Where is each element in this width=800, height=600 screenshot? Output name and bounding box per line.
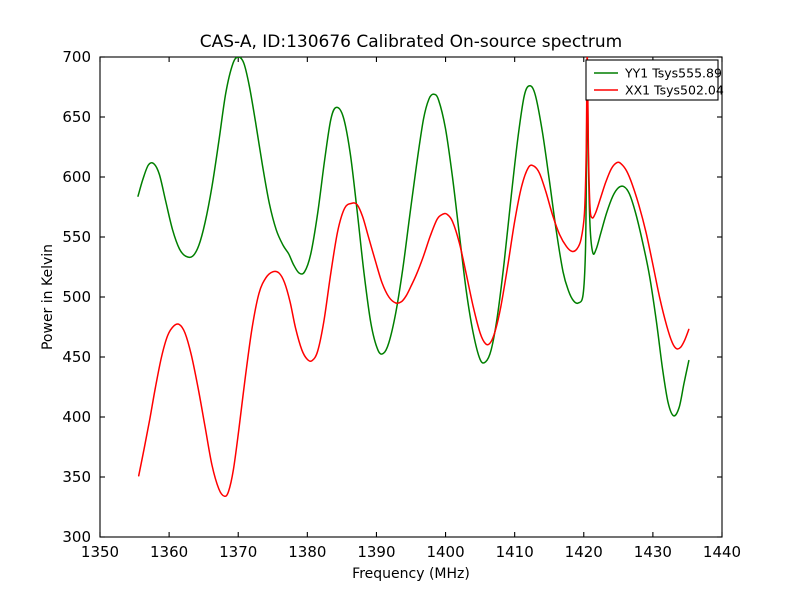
x-tick-label: 1370 (219, 543, 257, 561)
legend[interactable]: YY1 Tsys555.89XX1 Tsys502.04 (586, 60, 724, 100)
y-tick-label: 400 (62, 408, 91, 426)
y-tick-label: 500 (62, 288, 91, 306)
x-tick-label: 1420 (565, 543, 603, 561)
x-tick-label: 1430 (634, 543, 672, 561)
figure-canvas: CAS-A, ID:130676 Calibrated On-source sp… (0, 0, 800, 600)
x-tick-label: 1400 (426, 543, 464, 561)
y-tick-label: 600 (62, 168, 91, 186)
x-tick-label: 1410 (496, 543, 534, 561)
chart-title: CAS-A, ID:130676 Calibrated On-source sp… (200, 32, 622, 52)
y-axis-label: Power in Kelvin (40, 244, 56, 350)
y-tick-label: 700 (62, 48, 91, 66)
legend-label-2: XX1 Tsys502.04 (625, 83, 724, 98)
y-tick-label: 650 (62, 108, 91, 126)
x-tick-label: 1360 (150, 543, 188, 561)
legend-label-1: YY1 Tsys555.89 (624, 66, 722, 81)
y-tick-label: 450 (62, 348, 91, 366)
x-tick-label: 1440 (703, 543, 741, 561)
y-tick-label: 550 (62, 228, 91, 246)
y-tick-label: 300 (62, 528, 91, 546)
x-tick-label: 1390 (357, 543, 395, 561)
y-tick-label: 350 (62, 468, 91, 486)
spectrum-plot[interactable]: CAS-A, ID:130676 Calibrated On-source sp… (0, 0, 800, 600)
x-axis-label: Frequency (MHz) (352, 566, 470, 582)
x-tick-label: 1380 (288, 543, 326, 561)
